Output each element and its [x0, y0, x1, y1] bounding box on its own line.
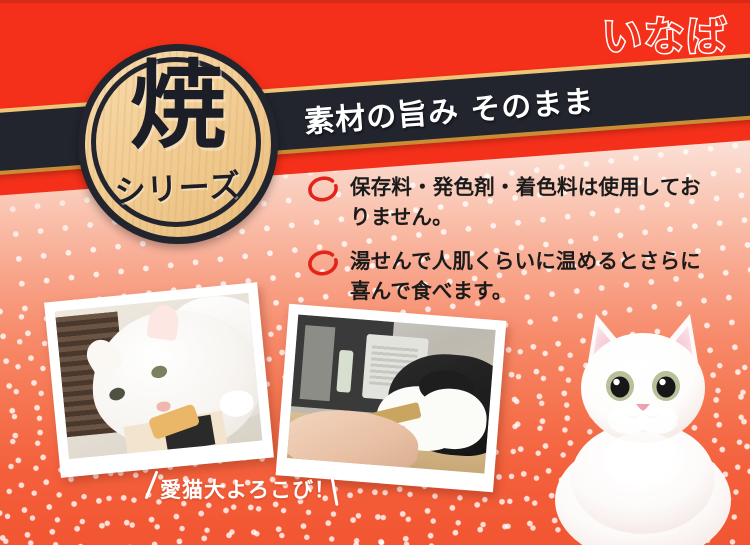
- list-item-text: 湯せんで人肌くらいに温めるとさらに喜んで食べます。: [350, 249, 701, 303]
- red-circle-icon: [306, 174, 340, 204]
- badge-main-character: 焼: [78, 58, 278, 154]
- list-item: 保存料・発色剤・着色料は使用しておりません。: [306, 172, 706, 232]
- photo-hand-feeding-cat: [276, 304, 507, 493]
- hero-cat-illustration: [548, 300, 738, 545]
- list-item: 湯せんで人肌くらいに温めるとさらに喜んで食べます。: [306, 246, 706, 306]
- photo-white-cat: [44, 282, 274, 478]
- promo-banner: いなば 素材の旨み そのまま 焼 シリーズ 保存料・発色剤・着色料は使用しており…: [0, 0, 750, 545]
- brand-logo: いなば: [602, 17, 728, 57]
- feature-list: 保存料・発色剤・着色料は使用しておりません。 湯せんで人肌くらいに温めるとさらに…: [306, 172, 706, 320]
- yaki-series-badge: 焼 シリーズ: [78, 44, 278, 244]
- photo-image: [55, 293, 262, 459]
- photo-image: [287, 314, 496, 473]
- list-item-text: 保存料・発色剤・着色料は使用しておりません。: [350, 175, 701, 229]
- bottom-caption: 愛猫大よろこび！: [160, 474, 336, 504]
- red-circle-icon: [306, 248, 340, 278]
- band-top-shadow: [0, 0, 750, 3]
